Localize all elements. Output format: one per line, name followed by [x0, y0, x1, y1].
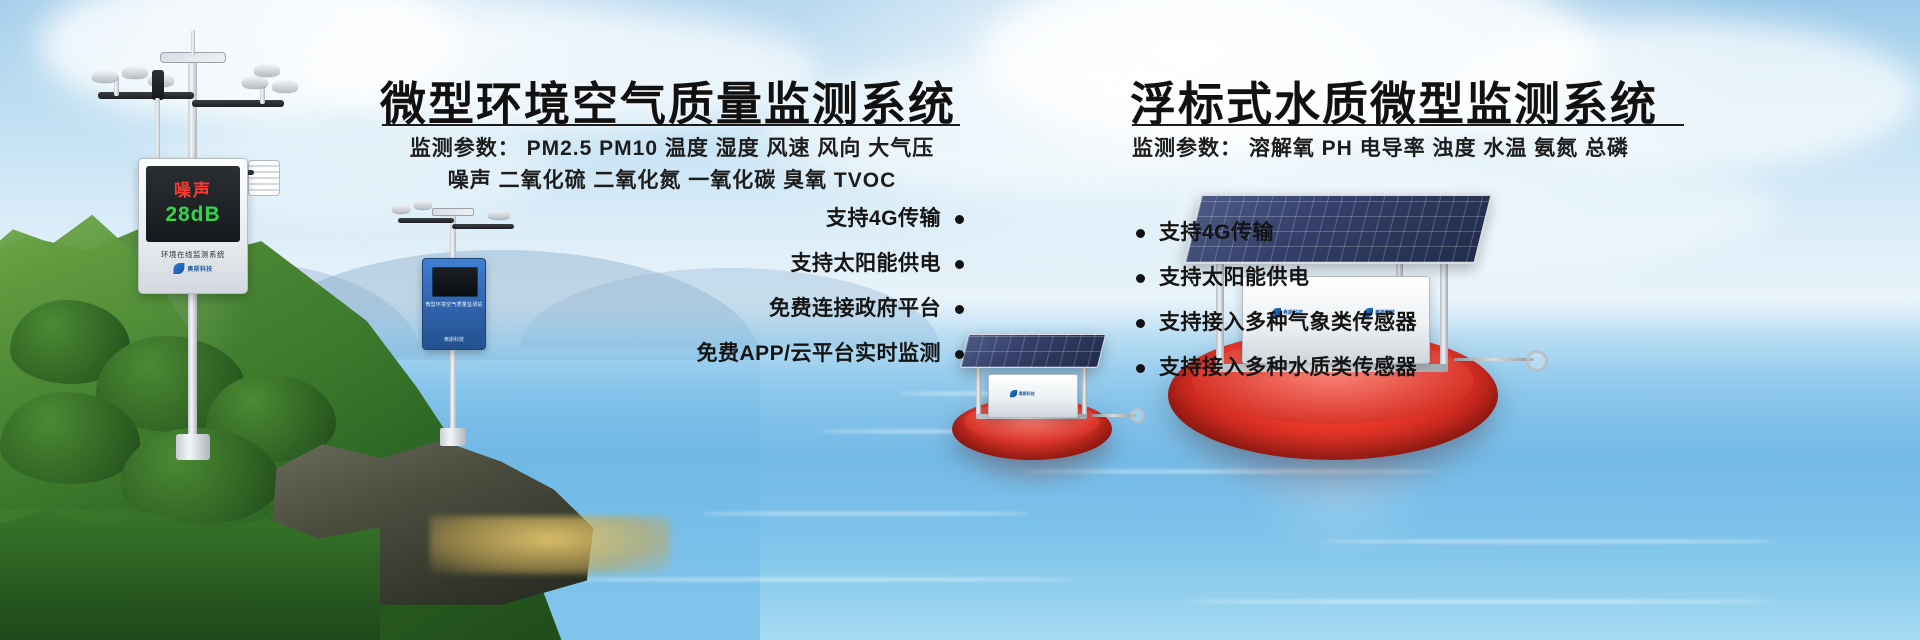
anemometer-cup [122, 66, 148, 78]
station-caption: 环境在线监测系统 [139, 249, 247, 260]
radiation-shield-sensor [248, 160, 280, 196]
lightning-rod [191, 30, 195, 56]
bullet-dot-icon [1136, 364, 1145, 373]
bullet-dot-icon [1136, 229, 1145, 238]
air-feature-label: 免费连接政府平台 [769, 297, 941, 320]
water-feature-label: 支持接入多种水质类传感器 [1159, 356, 1417, 379]
water-feature-item: 支持4G传输 [1136, 222, 1417, 243]
panel-water-quality: 浮标式水质微型监测系统 监测参数： 溶解氧 PH 电导率 浊度 水温 氨氮 总磷… [1110, 0, 1770, 640]
banner-root: 噪声 28dB 环境在线监测系统 奥斯科技 微型环境空气质量监测站 奥斯科技 [0, 0, 1920, 640]
lcd-noise-value: 28dB [165, 202, 220, 228]
anemometer-cup [92, 70, 118, 82]
station-base [176, 434, 210, 460]
bullet-dot-icon [1136, 319, 1145, 328]
water-feature-label: 支持4G传输 [1159, 221, 1274, 244]
air-feature-item: 免费APP/云平台实时监测 [380, 343, 964, 364]
leaf-icon [173, 263, 184, 274]
air-feature-item: 支持4G传输 [380, 208, 964, 229]
water-feature-item: 支持接入多种水质类传感器 [1136, 357, 1417, 378]
air-params-line-2: 噪声 二氧化硫 二氧化氮 一氧化碳 臭氧 TVOC [380, 164, 964, 194]
water-feature-label: 支持太阳能供电 [1159, 266, 1310, 289]
bullet-dot-icon [955, 350, 964, 359]
brand-name: 奥斯科技 [187, 264, 212, 273]
cross-arm-left [98, 92, 194, 99]
lcd-noise-label: 噪声 [174, 180, 212, 201]
bullet-dot-icon [955, 305, 964, 314]
air-divider-rule [382, 124, 960, 126]
bullet-dot-icon [1136, 274, 1145, 283]
air-feature-item: 支持太阳能供电 [380, 253, 964, 274]
air-feature-label: 支持太阳能供电 [791, 252, 942, 275]
wind-vane-cup [242, 76, 268, 88]
cross-arm-right [192, 100, 284, 107]
water-feature-list: 支持4G传输 支持太阳能供电 支持接入多种气象类传感器 支持接入多种水质类传感器 [1136, 222, 1417, 402]
air-feature-list: 支持4G传输 支持太阳能供电 免费连接政府平台 免费APP/云平台实时监测 [380, 208, 964, 388]
station-display-panel: 噪声 28dB 环境在线监测系统 奥斯科技 [138, 158, 248, 294]
water-params-line-1: 监测参数： 溶解氧 PH 电导率 浊度 水温 氨氮 总磷 [1132, 132, 1629, 162]
air-feature-label: 免费APP/云平台实时监测 [696, 342, 941, 365]
water-divider-rule [1132, 124, 1684, 126]
wind-vane-cup [254, 64, 280, 76]
panel-air-quality: 微型环境空气质量监测系统 监测参数： PM2.5 PM10 温度 湿度 风速 风… [380, 0, 1020, 640]
water-feature-item: 支持接入多种气象类传感器 [1136, 312, 1417, 333]
lcd-screen: 噪声 28dB [146, 166, 240, 242]
buoy-frame-leg [1082, 360, 1087, 418]
air-feature-label: 支持4G传输 [826, 207, 941, 230]
bullet-dot-icon [955, 260, 964, 269]
noise-sensor [152, 70, 164, 100]
brand-logo: 奥斯科技 [173, 263, 212, 274]
air-params-line-1: 监测参数： PM2.5 PM10 温度 湿度 风速 风向 大气压 [380, 132, 964, 162]
water-feature-label: 支持接入多种气象类传感器 [1159, 311, 1417, 334]
water-feature-item: 支持太阳能供电 [1136, 267, 1417, 288]
air-monitoring-station-tall: 噪声 28dB 环境在线监测系统 奥斯科技 [92, 30, 302, 460]
sensor-pole [155, 98, 160, 158]
brand-name: 奥斯科技 [1019, 391, 1035, 397]
air-feature-item: 免费连接政府平台 [380, 298, 964, 319]
wind-vane-cup [272, 80, 298, 92]
bullet-dot-icon [955, 215, 964, 224]
